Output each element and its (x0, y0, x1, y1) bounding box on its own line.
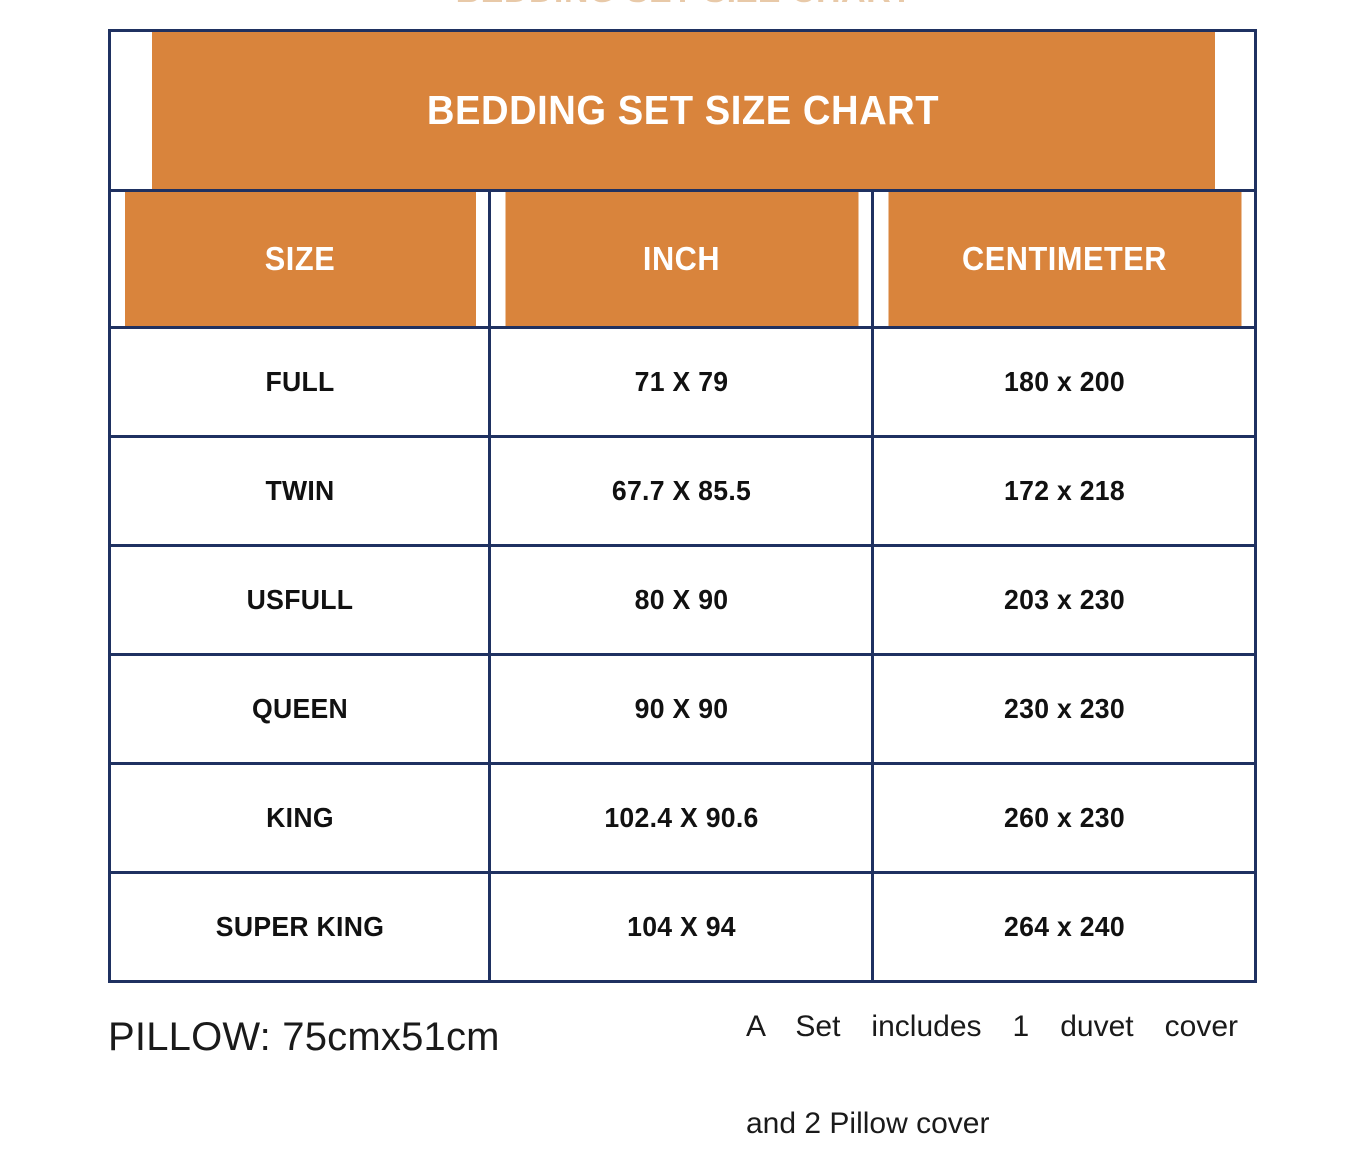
table-row: TWIN 67.7 X 85.5 172 x 218 (110, 437, 1256, 546)
cell-size: TWIN (119, 437, 480, 546)
cell-cm: 260 x 230 (882, 764, 1246, 873)
cell-size: SUPER KING (119, 873, 480, 982)
cell-inch: 90 X 90 (499, 655, 863, 764)
cell-size: USFULL (119, 546, 480, 655)
cell-cm: 230 x 230 (882, 655, 1246, 764)
set-contents-line-1: A Set includes 1 duvet cover (746, 1003, 1238, 1100)
pillow-size-note: PILLOW: 75cmx51cm (108, 1015, 500, 1060)
chart-title: BEDDING SET SIZE CHART (150, 31, 1216, 191)
cell-cm: 172 x 218 (882, 437, 1246, 546)
cell-cm: 180 x 200 (882, 328, 1246, 437)
footer-notes: PILLOW: 75cmx51cm A Set includes 1 duvet… (0, 985, 1368, 1125)
table-row: FULL 71 X 79 180 x 200 (110, 328, 1256, 437)
table-row: SUPER KING 104 X 94 264 x 240 (110, 873, 1256, 982)
cropped-top-title: BEDDING SET SIZE CHART (0, 0, 1368, 11)
table-row: QUEEN 90 X 90 230 x 230 (110, 655, 1256, 764)
cell-inch: 102.4 X 90.6 (499, 764, 863, 873)
column-header-centimeter: CENTIMETER (886, 191, 1242, 328)
table-title-row: BEDDING SET SIZE CHART (110, 31, 1256, 191)
set-contents-note: A Set includes 1 duvet cover and 2 Pillo… (746, 1003, 1238, 1149)
size-chart-container: BEDDING SET SIZE CHART SIZE INCH CENTIME… (108, 29, 1254, 983)
bedding-size-table: BEDDING SET SIZE CHART SIZE INCH CENTIME… (108, 29, 1257, 983)
column-header-size: SIZE (123, 191, 476, 328)
set-contents-line-2: and 2 Pillow cover (746, 1100, 1238, 1149)
cell-inch: 80 X 90 (499, 546, 863, 655)
cell-cm: 264 x 240 (882, 873, 1246, 982)
column-header-inch: INCH (503, 191, 859, 328)
cell-inch: 71 X 79 (499, 328, 863, 437)
cell-size: KING (119, 764, 480, 873)
table-header-row: SIZE INCH CENTIMETER (110, 191, 1256, 328)
cell-size: QUEEN (119, 655, 480, 764)
cell-inch: 104 X 94 (499, 873, 863, 982)
cell-cm: 203 x 230 (882, 546, 1246, 655)
cell-inch: 67.7 X 85.5 (499, 437, 863, 546)
table-row: KING 102.4 X 90.6 260 x 230 (110, 764, 1256, 873)
cell-size: FULL (119, 328, 480, 437)
table-row: USFULL 80 X 90 203 x 230 (110, 546, 1256, 655)
